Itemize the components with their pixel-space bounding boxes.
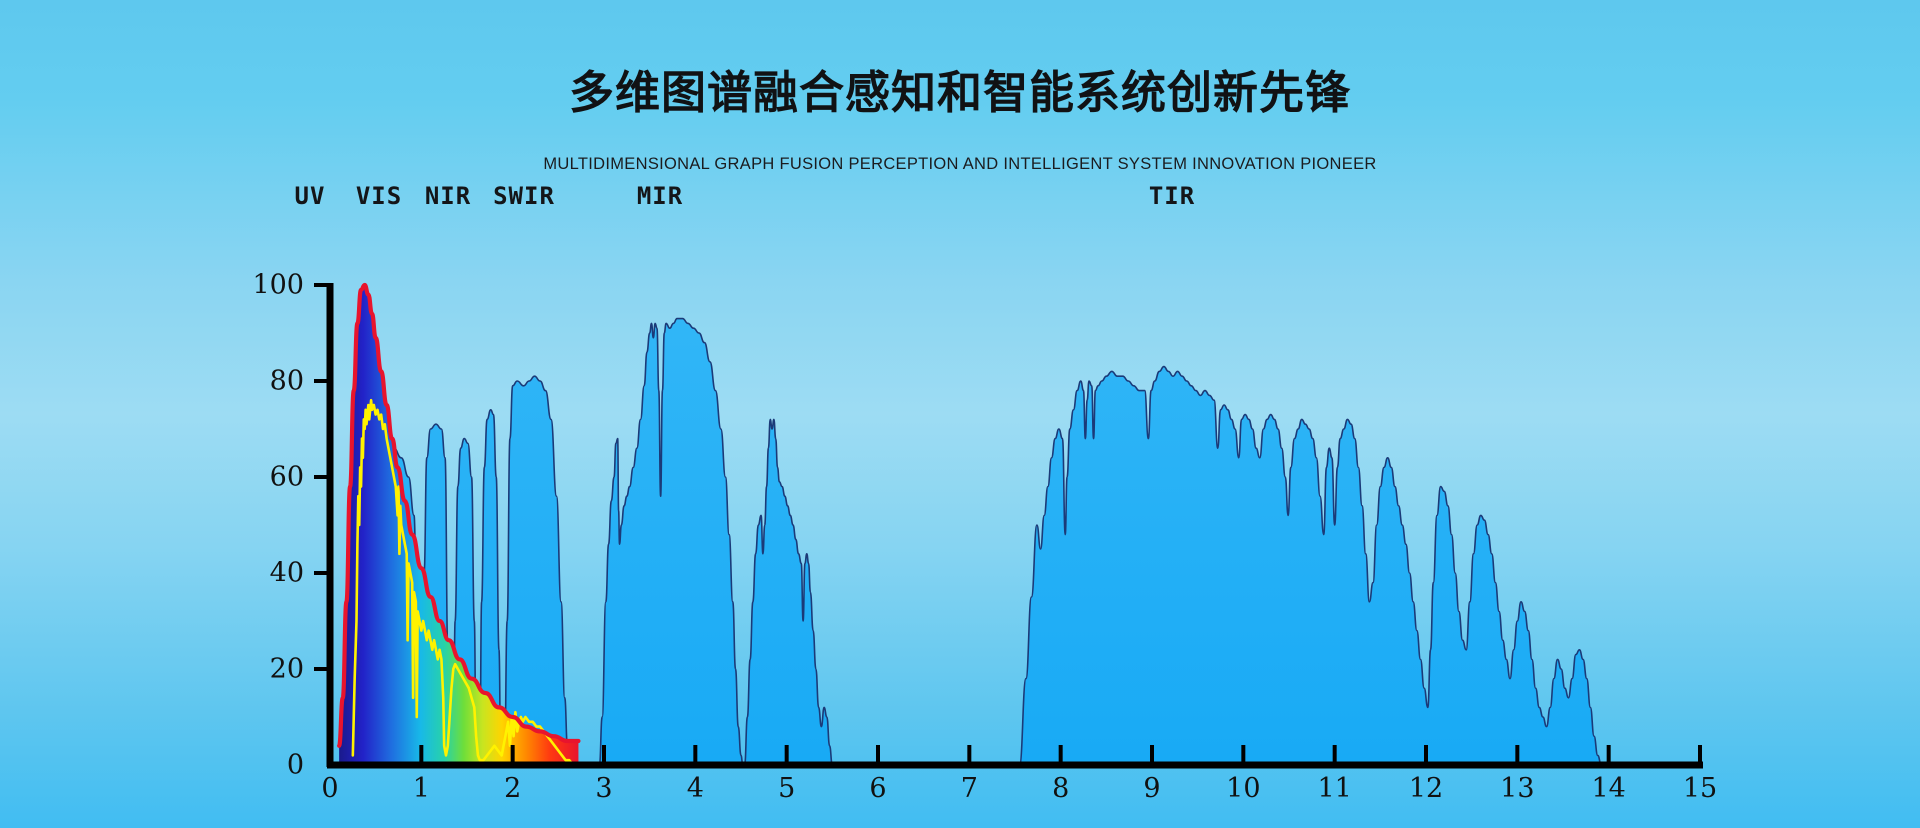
x-axis-label: 7 xyxy=(961,773,978,804)
x-axis-label: 4 xyxy=(687,773,704,804)
y-axis-label: 80 xyxy=(270,366,304,397)
y-axis-label: 100 xyxy=(252,270,304,301)
x-axis-label: 9 xyxy=(1143,773,1160,804)
x-axis-label: 12 xyxy=(1409,773,1443,804)
y-axis-label: 20 xyxy=(270,654,304,685)
x-axis-label: 10 xyxy=(1226,773,1260,804)
x-axis-label: 13 xyxy=(1500,773,1534,804)
spectral-chart xyxy=(0,0,1920,828)
band-label-swir: SWIR xyxy=(493,182,555,210)
poster-root: 多维图谱融合感知和智能系统创新先锋 MULTIDIMENSIONAL GRAPH… xyxy=(0,0,1920,828)
x-axis-label: 14 xyxy=(1591,773,1625,804)
band-label-vis: VIS xyxy=(356,182,402,210)
band-label-tir: TIR xyxy=(1149,182,1195,210)
x-axis-label: 1 xyxy=(413,773,430,804)
x-axis-label: 2 xyxy=(504,773,521,804)
band-label-mir: MIR xyxy=(637,182,683,210)
x-axis-label: 6 xyxy=(869,773,886,804)
x-axis-label: 8 xyxy=(1052,773,1069,804)
y-axis-label: 60 xyxy=(270,462,304,493)
x-axis-label: 0 xyxy=(321,773,338,804)
atmospheric-transmission-area xyxy=(330,319,1700,765)
band-label-nir: NIR xyxy=(425,182,471,210)
x-axis-label: 15 xyxy=(1683,773,1717,804)
y-axis-label: 0 xyxy=(287,750,304,781)
band-label-uv: UV xyxy=(295,182,326,210)
x-axis-label: 3 xyxy=(595,773,612,804)
transmission-bands xyxy=(330,319,1700,765)
x-axis-label: 5 xyxy=(778,773,795,804)
y-axis-label: 40 xyxy=(270,558,304,589)
x-axis-label: 11 xyxy=(1317,773,1351,804)
